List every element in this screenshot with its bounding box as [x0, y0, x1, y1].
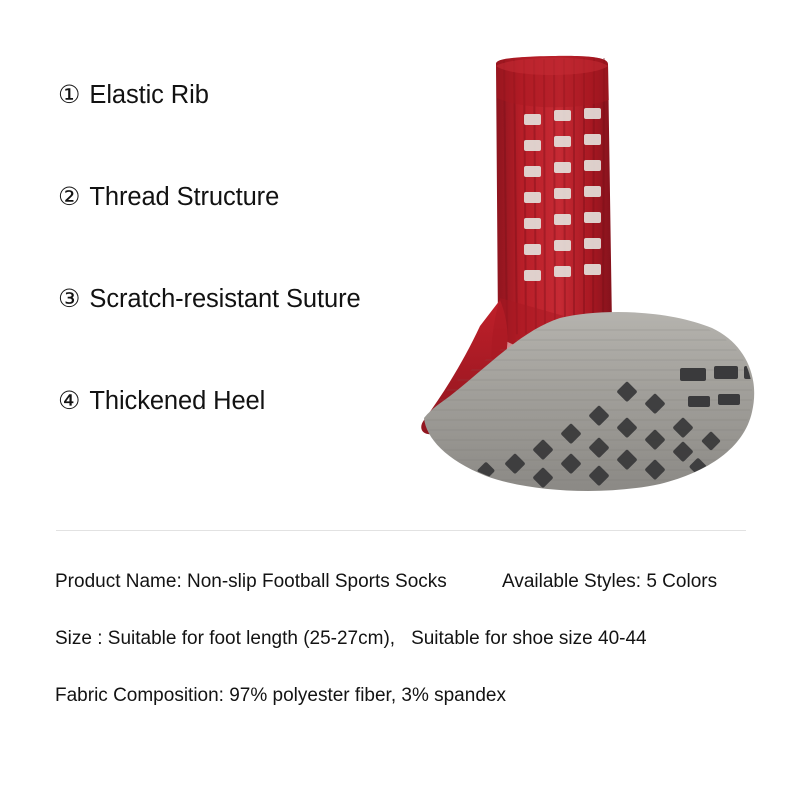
feature-marker-1-icon: ①: [58, 82, 80, 107]
spec-shoe-size: Suitable for shoe size 40-44: [411, 629, 647, 686]
spec-row-fabric: Fabric Composition: 97% polyester fiber,…: [55, 686, 775, 743]
section-divider: [56, 530, 746, 531]
feature-label-1: Elastic Rib: [89, 83, 208, 109]
product-image: 1 2 3 4: [392, 30, 784, 510]
spec-product-name: Product Name: Non-slip Football Sports S…: [55, 572, 502, 629]
spec-fabric-composition: Fabric Composition: 97% polyester fiber,…: [55, 685, 506, 706]
spec-row-name-and-styles: Product Name: Non-slip Football Sports S…: [55, 572, 775, 629]
feature-marker-4-icon: ④: [58, 388, 80, 413]
feature-marker-2-icon: ②: [58, 184, 80, 209]
feature-label-2: Thread Structure: [89, 185, 279, 211]
feature-marker-3-icon: ③: [58, 286, 80, 311]
spec-row-size: Size : Suitable for foot length (25-27cm…: [55, 629, 775, 686]
feature-label-4: Thickened Heel: [89, 389, 265, 415]
spec-foot-length: Size : Suitable for foot length (25-27cm…: [55, 629, 395, 686]
spec-available-styles: Available Styles: 5 Colors: [502, 572, 717, 629]
product-specifications: Product Name: Non-slip Football Sports S…: [55, 572, 775, 743]
feature-label-3: Scratch-resistant Suture: [89, 287, 360, 313]
sole-region: [422, 312, 762, 491]
sock-illustration: [392, 30, 784, 510]
